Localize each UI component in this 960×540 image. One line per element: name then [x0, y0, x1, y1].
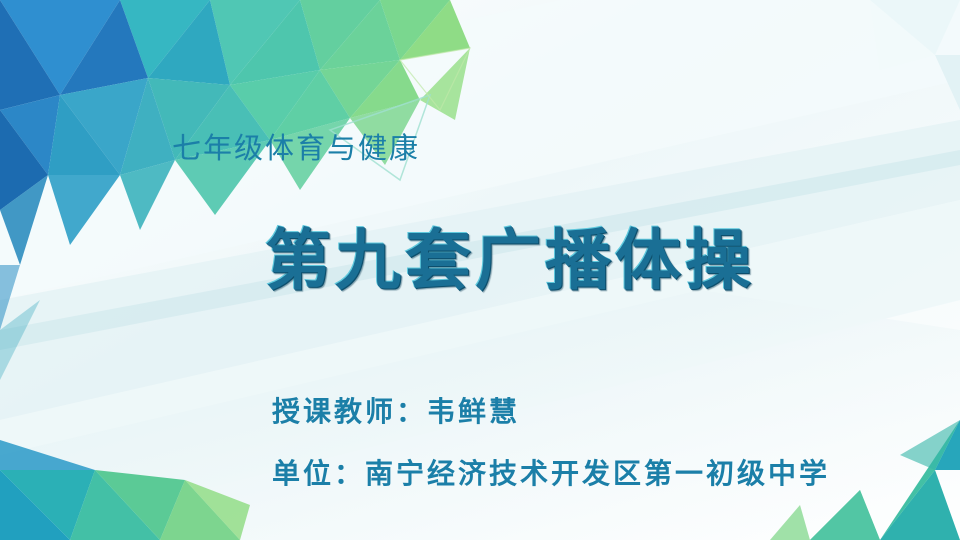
- slide-unit-line: 单位：南宁经济技术开发区第一初级中学: [272, 460, 830, 488]
- slide-main-title: 第九套广播体操: [265, 228, 755, 294]
- slide-subtitle: 七年级体育与健康: [172, 134, 420, 163]
- slide-teacher-line: 授课教师：韦鲜慧: [272, 398, 520, 426]
- presentation-slide: 七年级体育与健康 第九套广播体操 授课教师：韦鲜慧 单位：南宁经济技术开发区第一…: [0, 0, 960, 540]
